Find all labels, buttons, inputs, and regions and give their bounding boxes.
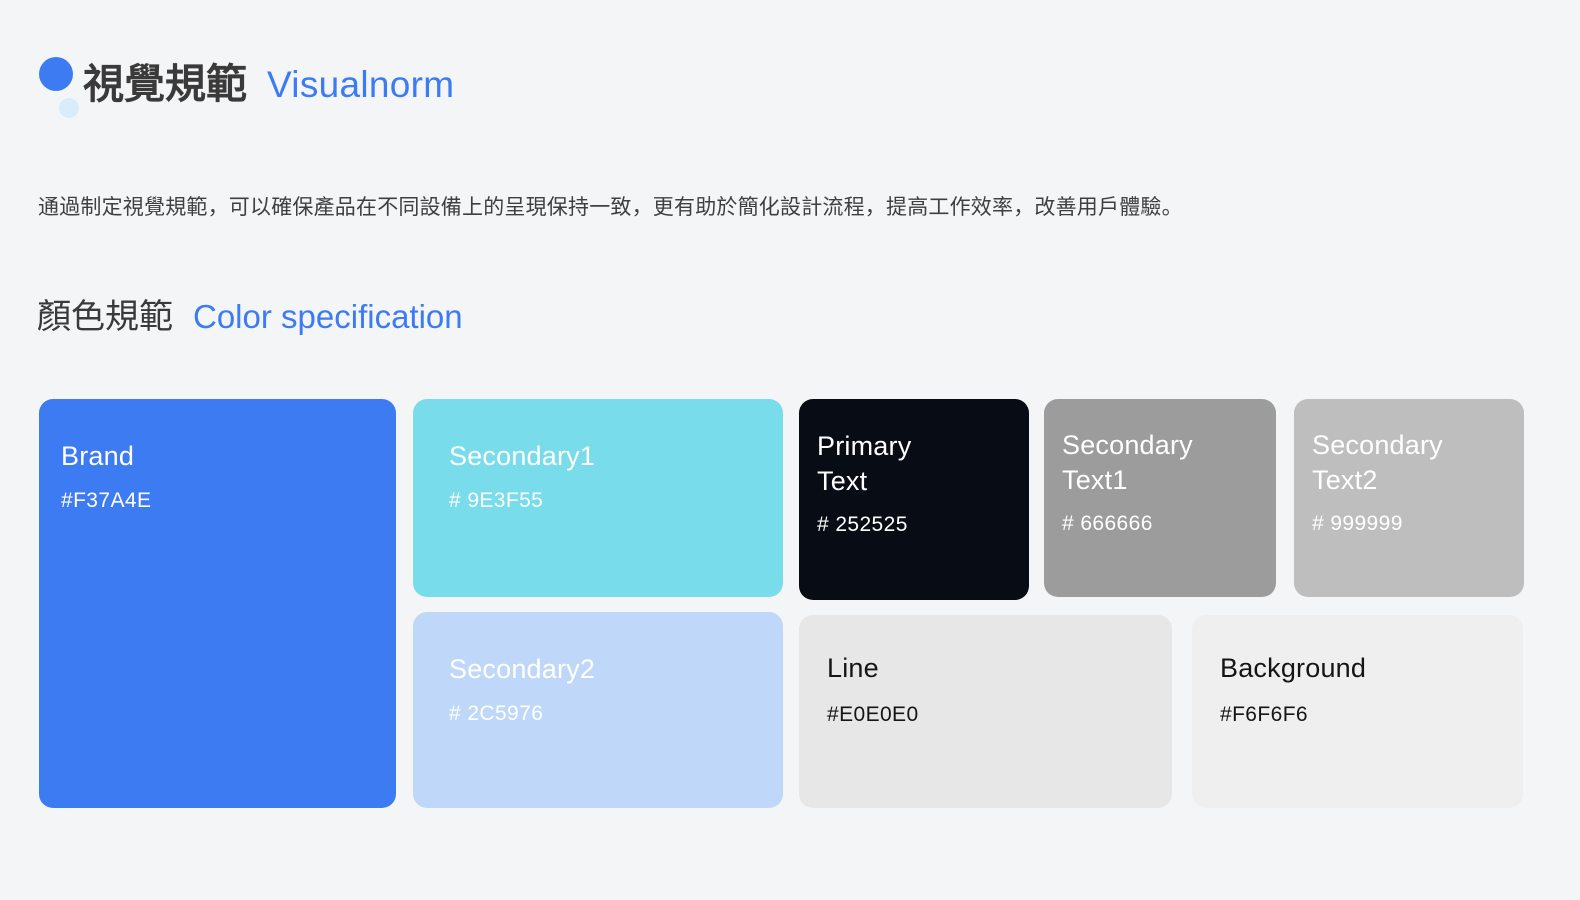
swatch-name: Primary Text: [817, 429, 1007, 498]
swatch-hex: #F6F6F6: [1220, 704, 1501, 725]
color-swatch-grid: Brand #F37A4E Secondary1 # 9E3F55 Second…: [0, 0, 1580, 900]
swatch-name: Brand: [61, 439, 374, 474]
color-swatch-secondary-text2[interactable]: Secondary Text2 # 999999: [1294, 399, 1524, 597]
swatch-name: Secondary1: [449, 439, 761, 474]
swatch-hex: #F37A4E: [61, 490, 374, 511]
color-swatch-line[interactable]: Line #E0E0E0: [799, 615, 1172, 808]
swatch-hex: # 666666: [1062, 513, 1254, 534]
swatch-name: Background: [1220, 651, 1501, 686]
swatch-hex: # 9E3F55: [449, 490, 761, 511]
color-swatch-background[interactable]: Background #F6F6F6: [1192, 615, 1523, 808]
color-swatch-secondary-text1[interactable]: Secondary Text1 # 666666: [1044, 399, 1276, 597]
swatch-name: Secondary Text1: [1062, 428, 1254, 497]
color-swatch-secondary2[interactable]: Secondary2 # 2C5976: [413, 612, 783, 808]
visual-spec-page: 視覺規範 Visualnorm 通過制定視覺規範，可以確保產品在不同設備上的呈現…: [0, 0, 1580, 900]
swatch-hex: # 2C5976: [449, 703, 761, 724]
color-swatch-primary-text[interactable]: Primary Text # 252525: [799, 399, 1029, 600]
swatch-hex: #E0E0E0: [827, 704, 1150, 725]
color-swatch-secondary1[interactable]: Secondary1 # 9E3F55: [413, 399, 783, 597]
swatch-name: Secondary2: [449, 652, 761, 687]
swatch-name: Line: [827, 651, 1150, 686]
swatch-name: Secondary Text2: [1312, 428, 1502, 497]
swatch-hex: # 999999: [1312, 513, 1502, 534]
swatch-hex: # 252525: [817, 514, 1007, 535]
color-swatch-brand[interactable]: Brand #F37A4E: [39, 399, 396, 808]
